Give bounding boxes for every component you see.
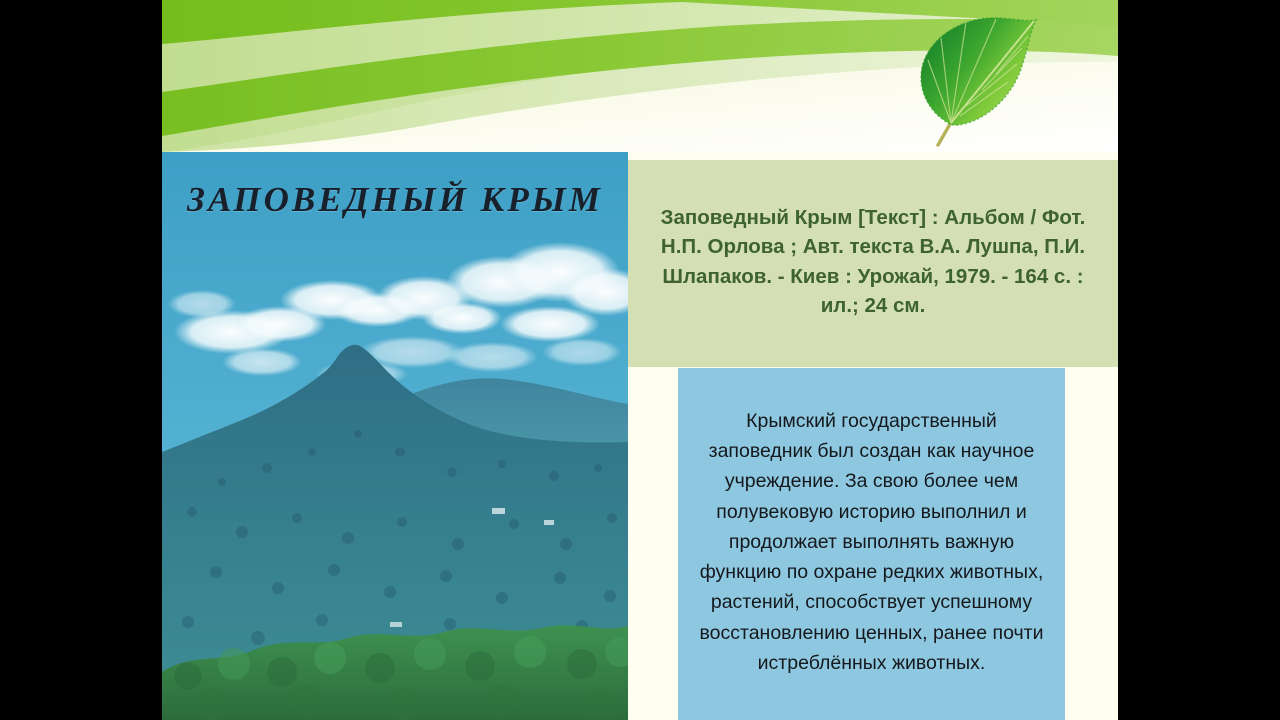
slide-canvas: ЗАПОВЕДНЫЙ КРЫМ Заповедный Крым [Текст] … — [162, 0, 1118, 720]
bibliography-text: Заповедный Крым [Текст] : Альбом / Фот. … — [644, 203, 1102, 319]
leaf-icon — [904, 6, 1064, 149]
slide-frame: ЗАПОВЕДНЫЙ КРЫМ Заповедный Крым [Текст] … — [0, 0, 1280, 720]
book-cover-title: ЗАПОВЕДНЫЙ КРЫМ — [162, 180, 628, 220]
letterbox-right — [1118, 0, 1280, 720]
book-cover-image: ЗАПОВЕДНЫЙ КРЫМ — [162, 152, 628, 720]
bibliography-panel: Заповедный Крым [Текст] : Альбом / Фот. … — [628, 160, 1118, 367]
letterbox-left — [0, 0, 162, 720]
description-panel: Крымский государственный заповедник был … — [678, 368, 1065, 720]
description-text: Крымский государственный заповедник был … — [692, 406, 1051, 678]
